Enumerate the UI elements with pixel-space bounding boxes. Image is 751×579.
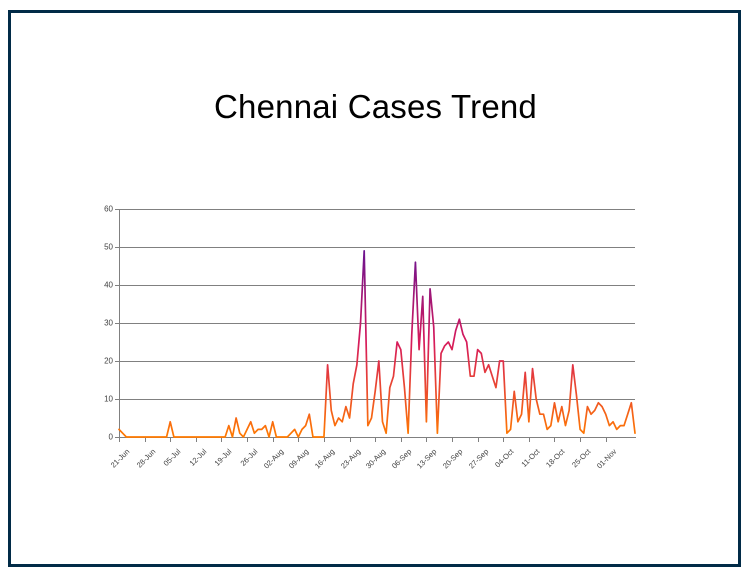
x-tick-mark-30-Aug: [375, 437, 376, 442]
x-tick-mark-23-Aug: [350, 437, 351, 442]
x-tick-mark-06-Sep: [401, 437, 402, 442]
x-tick-mark-27-Sep: [478, 437, 479, 442]
chart-plot: 0102030405060 21-Jun28-Jun05-Jul12-Jul19…: [119, 209, 635, 437]
x-tick-mark-18-Oct: [554, 437, 555, 442]
x-tick-mark-25-Oct: [580, 437, 581, 442]
y-tick-label-0: 0: [109, 433, 113, 442]
y-tick-label-50: 50: [104, 243, 113, 252]
series-line: [119, 209, 635, 437]
x-tick-mark-26-Jul: [247, 437, 248, 442]
x-tick-mark-11-Oct: [529, 437, 530, 442]
x-tick-mark-04-Oct: [503, 437, 504, 442]
y-tick-label-20: 20: [104, 357, 113, 366]
y-tick-label-30: 30: [104, 319, 113, 328]
x-tick-mark-01-Nov: [606, 437, 607, 442]
x-tick-mark-13-Sep: [426, 437, 427, 442]
y-tick-label-40: 40: [104, 281, 113, 290]
chart-title: Chennai Cases Trend: [0, 88, 751, 126]
x-tick-mark-21-Jun: [119, 437, 120, 442]
x-tick-mark-20-Sep: [452, 437, 453, 442]
y-tick-label-60: 60: [104, 205, 113, 214]
slide: Chennai Cases Trend 0102030405060 21-Jun…: [0, 0, 751, 579]
y-tick-label-10: 10: [104, 395, 113, 404]
x-tick-mark-02-Aug: [273, 437, 274, 442]
x-tick-mark-05-Jul: [170, 437, 171, 442]
